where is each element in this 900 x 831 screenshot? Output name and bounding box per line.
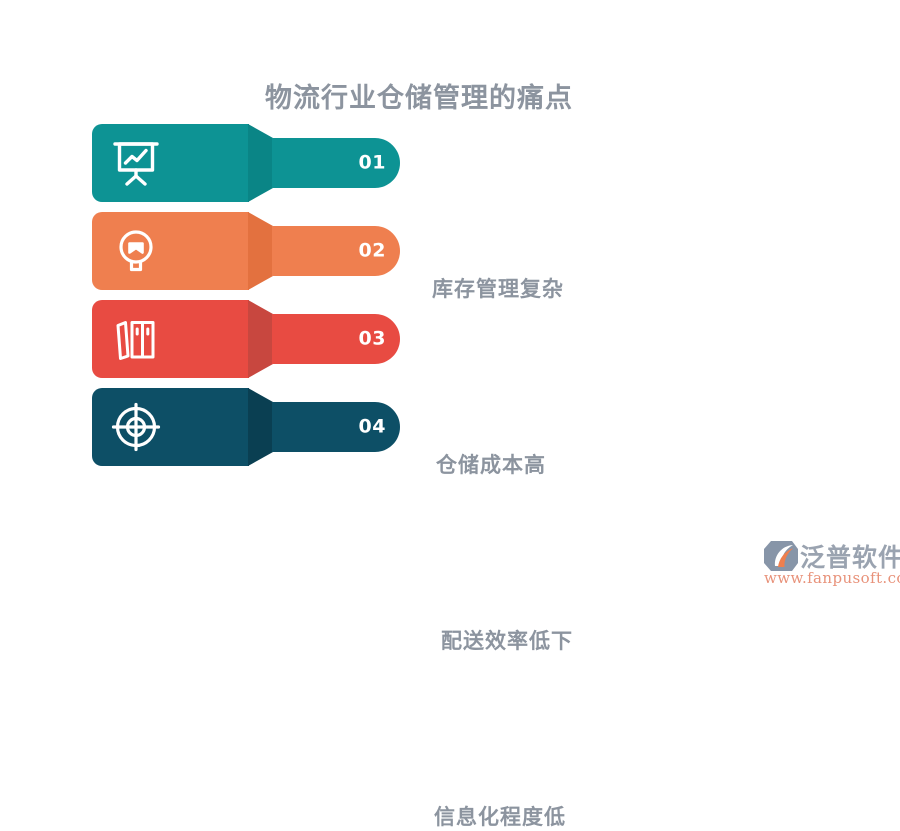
- presentation-chart-icon: [110, 137, 162, 189]
- item-number: 01: [359, 154, 386, 173]
- ribbon-banner[interactable]: 03: [92, 300, 402, 388]
- fanpu-logo-mark: [762, 540, 798, 572]
- item-label: 信息化程度低: [434, 801, 566, 831]
- item-number: 02: [359, 242, 386, 261]
- ribbon-number-bar: 03: [272, 314, 400, 364]
- lightbulb-icon: [110, 225, 162, 277]
- brand-logo: 泛普软件 www.fanpusoft.com: [762, 538, 894, 590]
- ribbon-banner[interactable]: 01: [92, 124, 402, 212]
- item-number: 03: [359, 330, 386, 349]
- target-crosshair-icon: [110, 401, 162, 453]
- infographic-row: 02 仓储成本高: [0, 212, 900, 300]
- ribbon-fold-wedge: [248, 388, 273, 466]
- ribbon-fold-wedge: [248, 124, 273, 202]
- ribbon-number-bar: 02: [272, 226, 400, 276]
- page-title: 物流行业仓储管理的痛点: [0, 76, 838, 115]
- ribbon-banner[interactable]: 02: [92, 212, 402, 300]
- ribbon-fold-wedge: [248, 300, 273, 378]
- logo-website-url: www.fanpusoft.com: [764, 569, 900, 587]
- infographic-row: 03 配送效率低下: [0, 300, 900, 388]
- infographic-row: 01 库存管理复杂: [0, 124, 900, 212]
- file-cabinet-icon: [110, 313, 162, 365]
- item-label: 配送效率低下: [441, 625, 573, 655]
- infographic-canvas: 物流行业仓储管理的痛点 01: [0, 0, 900, 600]
- ribbon-number-bar: 04: [272, 402, 400, 452]
- ribbon-fold-wedge: [248, 212, 273, 290]
- ribbon-number-bar: 01: [272, 138, 400, 188]
- item-number: 04: [359, 418, 386, 437]
- infographic-row: 04 信息化程度低: [0, 388, 900, 476]
- ribbon-banner[interactable]: 04: [92, 388, 402, 476]
